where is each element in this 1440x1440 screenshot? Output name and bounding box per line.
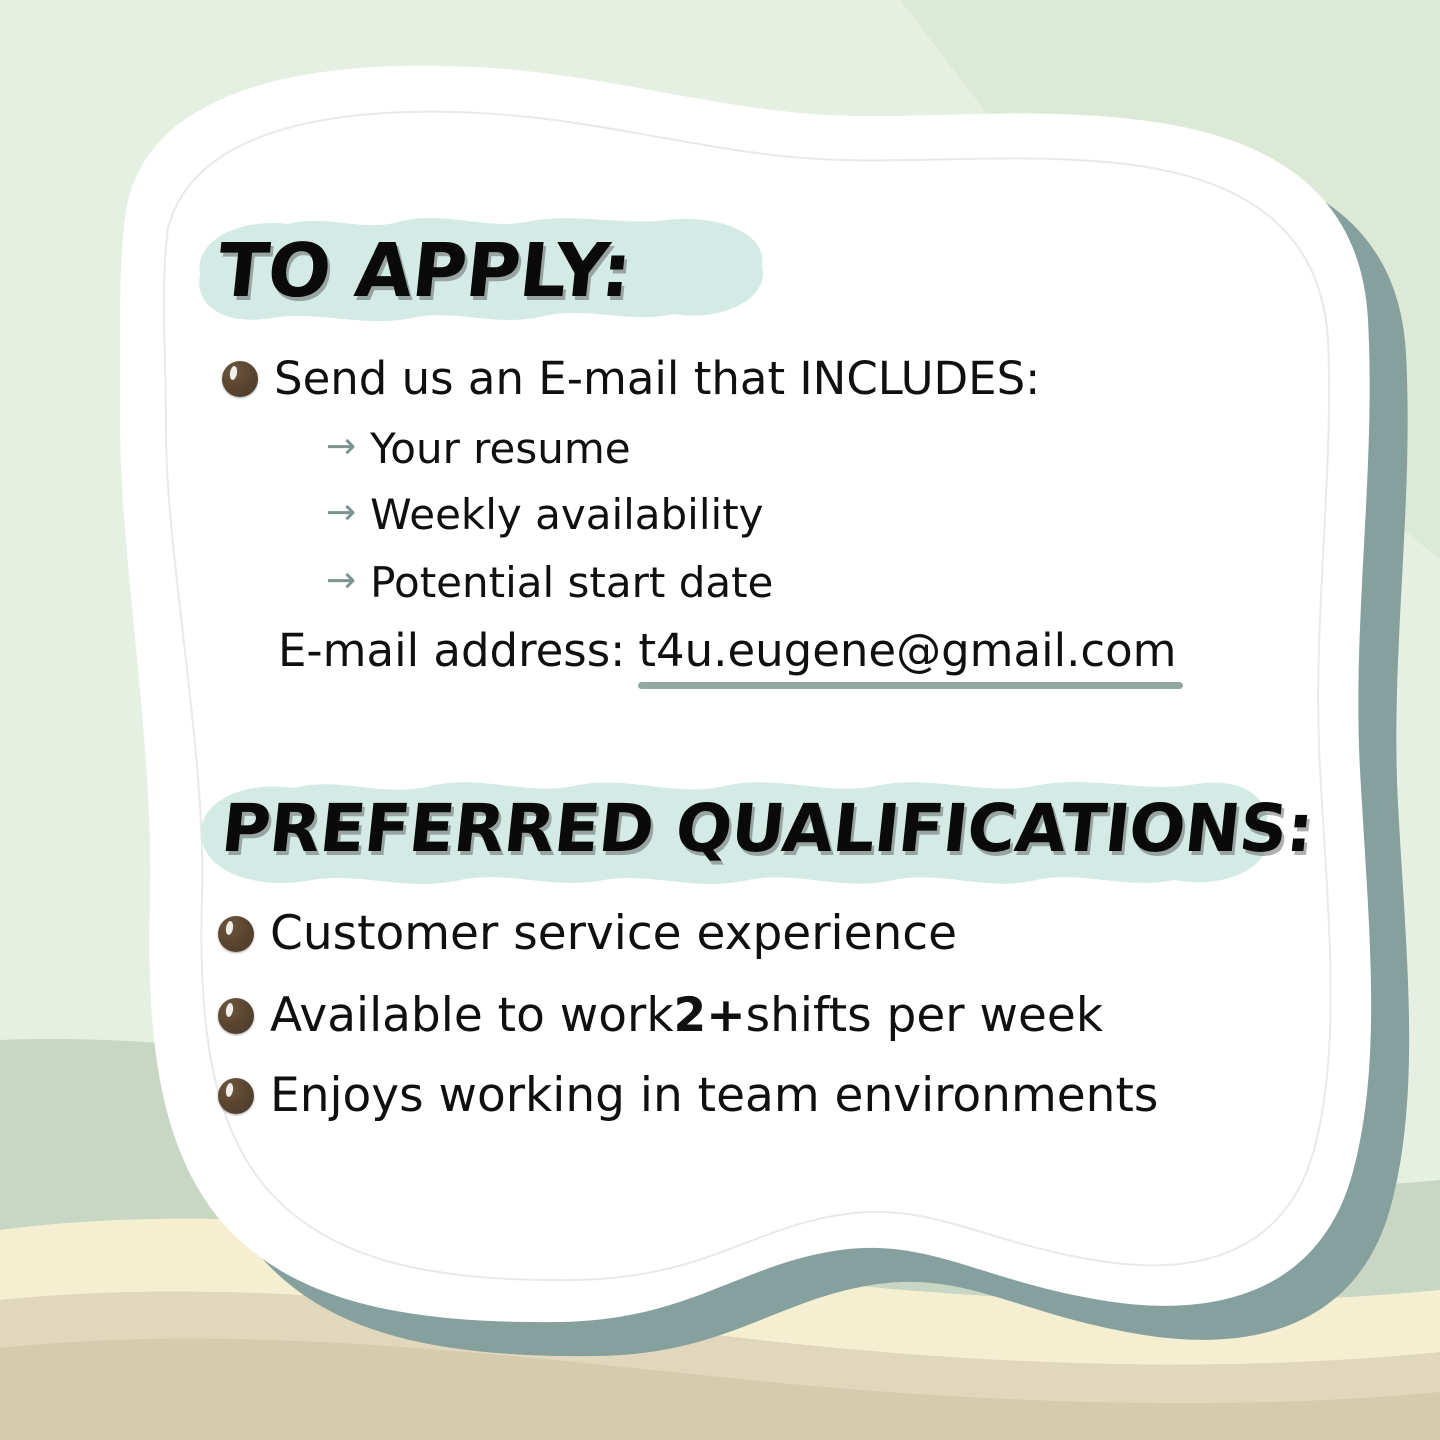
email-address-value[interactable]: t4u.eugene@gmail.com xyxy=(638,624,1176,689)
brown-dot-bullet-icon xyxy=(218,998,254,1034)
sub-bullet-text: Your resume xyxy=(370,424,630,473)
bullet-text: Send us an E-mail that INCLUDES: xyxy=(274,352,1040,405)
sub-bullet-text: Potential start date xyxy=(370,558,773,607)
bullet-row-shifts-per-week: Available to work 2+ shifts per week xyxy=(218,988,1103,1043)
bullet-row-customer-service: Customer service experience xyxy=(218,906,957,961)
bullet-text: Customer service experience xyxy=(270,906,957,961)
bullet-text-after: shifts per week xyxy=(746,988,1103,1043)
sub-bullet-row-resume: → Your resume xyxy=(326,424,631,473)
sub-bullet-text: Weekly availability xyxy=(370,490,763,539)
bullet-text-emphasis: 2+ xyxy=(674,988,746,1043)
email-address-label: E-mail address: xyxy=(278,624,625,677)
poster-content: TO APPLY: Send us an E-mail that INCLUDE… xyxy=(0,0,1440,1440)
page-heading-preferred-qualifications: PREFERRED QUALIFICATIONS: xyxy=(218,790,1317,867)
brown-dot-bullet-icon xyxy=(218,916,254,952)
bullet-text-before: Available to work xyxy=(270,988,674,1043)
arrow-right-icon: → xyxy=(326,495,356,531)
email-address-line: E-mail address: t4u.eugene@gmail.com xyxy=(278,624,1177,689)
arrow-right-icon: → xyxy=(326,563,356,599)
sub-bullet-row-weekly-availability: → Weekly availability xyxy=(326,490,764,539)
brown-dot-bullet-icon xyxy=(218,1078,254,1114)
brown-dot-bullet-icon xyxy=(222,361,258,397)
arrow-right-icon: → xyxy=(326,429,356,465)
bullet-row-team-environments: Enjoys working in team environments xyxy=(218,1068,1158,1123)
sub-bullet-row-start-date: → Potential start date xyxy=(326,558,773,607)
bullet-text: Enjoys working in team environments xyxy=(270,1068,1158,1123)
bullet-row-send-email: Send us an E-mail that INCLUDES: xyxy=(222,352,1040,405)
page-heading-to-apply: TO APPLY: xyxy=(213,228,635,314)
